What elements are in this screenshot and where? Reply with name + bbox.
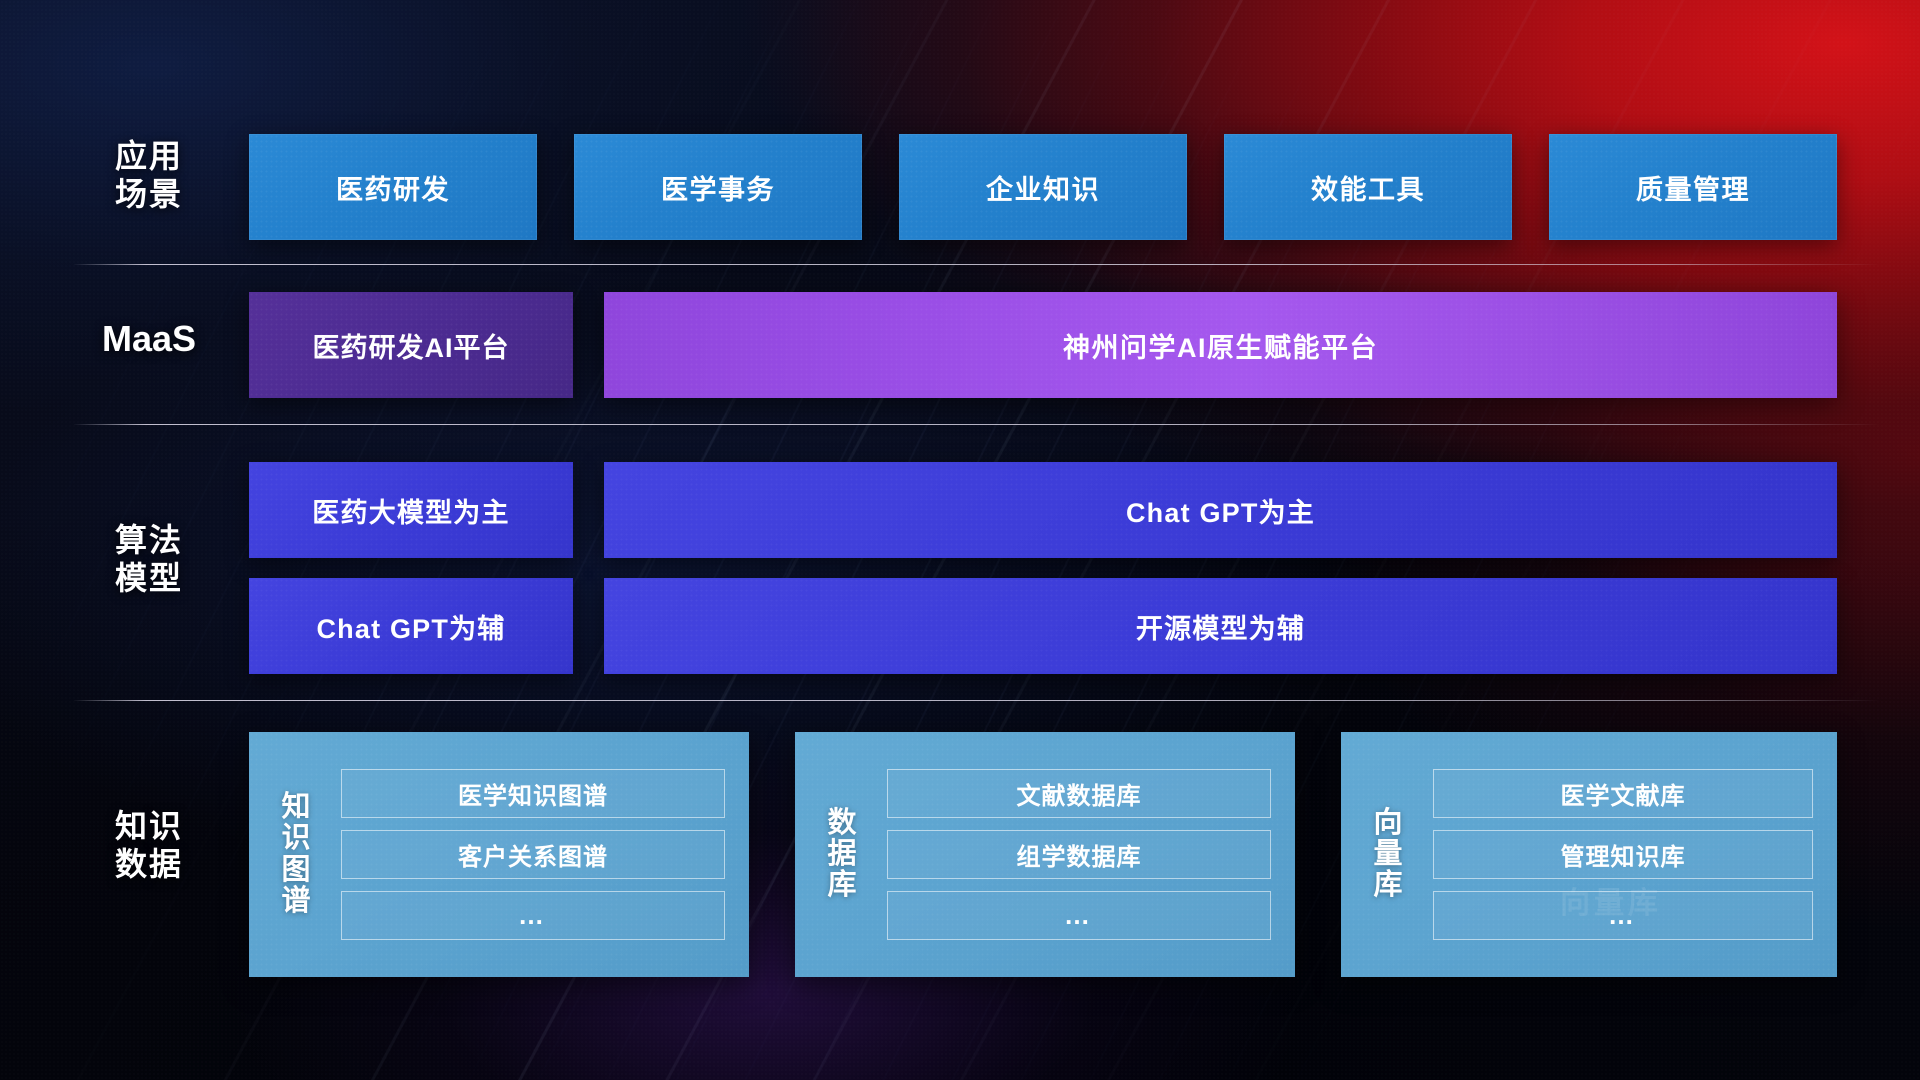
row-maas: MaaS 医药研发AI平台 神州问学AI原生赋能平台 [0, 292, 1920, 398]
knowledge-item[interactable]: 医学知识图谱 [341, 769, 725, 818]
knowledge-card-database-vertical-label: 数据库 [811, 808, 873, 902]
scenario-box-1[interactable]: 医药研发 [249, 134, 537, 240]
knowledge-item-label: 医学知识图谱 [458, 776, 608, 811]
knowledge-card-knowledge-graph-items: 医学知识图谱 客户关系图谱 … [327, 755, 733, 954]
knowledge-card-database[interactable]: 数据库 文献数据库 组学数据库 … [795, 732, 1295, 977]
scenario-box-4[interactable]: 效能工具 [1224, 134, 1512, 240]
row-label-line-2: 数据 [74, 846, 224, 884]
knowledge-item-label: 文献数据库 [1017, 776, 1142, 811]
knowledge-item-label: 医学文献库 [1561, 776, 1686, 811]
maas-box-shenzhou-platform[interactable]: 神州问学AI原生赋能平台 [604, 292, 1837, 398]
divider-1 [74, 264, 1880, 265]
scenario-box-5-label: 质量管理 [1636, 168, 1750, 207]
knowledge-item-more[interactable]: … [341, 891, 725, 940]
scenario-box-3-label: 企业知识 [986, 168, 1100, 207]
row-application-scenario: 应用 场景 医药研发 医学事务 企业知识 效能工具 质量管理 [0, 134, 1920, 240]
knowledge-item-label: … [518, 900, 548, 931]
knowledge-item[interactable]: 医学文献库 [1433, 769, 1813, 818]
knowledge-item-label: 客户关系图谱 [458, 837, 608, 872]
knowledge-item[interactable]: 组学数据库 [887, 830, 1271, 879]
algorithm-box-pharma-primary-label: 医药大模型为主 [312, 491, 509, 530]
algorithm-box-chatgpt-primary[interactable]: Chat GPT为主 [604, 462, 1837, 558]
row-label-algorithm-model: 算法 模型 [74, 522, 224, 598]
divider-3 [74, 700, 1880, 701]
knowledge-item[interactable]: 文献数据库 [887, 769, 1271, 818]
knowledge-item[interactable]: 客户关系图谱 [341, 830, 725, 879]
knowledge-item-label: 组学数据库 [1017, 837, 1142, 872]
scenario-box-5[interactable]: 质量管理 [1549, 134, 1837, 240]
knowledge-item-more[interactable]: … [1433, 891, 1813, 940]
divider-2 [74, 424, 1880, 425]
row-label-line-1: 知识 [74, 808, 224, 846]
scenario-box-1-label: 医药研发 [336, 168, 450, 207]
maas-box-pharma-ai-platform-label: 医药研发AI平台 [313, 326, 510, 365]
knowledge-card-vector-store-vertical-label: 向量库 [1357, 808, 1419, 902]
row-label-line-1: MaaS [74, 318, 224, 360]
knowledge-card-vector-store[interactable]: 向量库 医学文献库 管理知识库 … [1341, 732, 1837, 977]
knowledge-card-vector-store-items: 医学文献库 管理知识库 … [1419, 755, 1821, 954]
knowledge-item-more[interactable]: … [887, 891, 1271, 940]
maas-box-shenzhou-platform-label: 神州问学AI原生赋能平台 [1063, 326, 1378, 365]
knowledge-card-knowledge-graph[interactable]: 知识图谱 医学知识图谱 客户关系图谱 … [249, 732, 749, 977]
knowledge-item-label: 管理知识库 [1561, 837, 1686, 872]
architecture-diagram: 应用 场景 医药研发 医学事务 企业知识 效能工具 质量管理 [0, 0, 1920, 1080]
row-label-line-1: 应用 [74, 138, 224, 176]
maas-box-pharma-ai-platform[interactable]: 医药研发AI平台 [249, 292, 573, 398]
row-label-line-1: 算法 [74, 522, 224, 560]
algorithm-box-pharma-primary[interactable]: 医药大模型为主 [249, 462, 573, 558]
algorithm-box-chatgpt-secondary-label: Chat GPT为辅 [316, 607, 505, 646]
row-label-line-2: 场景 [74, 176, 224, 214]
knowledge-card-knowledge-graph-vertical-label: 知识图谱 [265, 792, 327, 917]
row-label-knowledge-data: 知识 数据 [74, 808, 224, 884]
scenario-box-3[interactable]: 企业知识 [899, 134, 1187, 240]
algorithm-box-opensource-secondary-label: 开源模型为辅 [1136, 607, 1305, 646]
algorithm-box-chatgpt-secondary[interactable]: Chat GPT为辅 [249, 578, 573, 674]
row-label-maas: MaaS [74, 318, 224, 360]
scenario-box-2-label: 医学事务 [661, 168, 775, 207]
scenario-box-2[interactable]: 医学事务 [574, 134, 862, 240]
algorithm-box-opensource-secondary[interactable]: 开源模型为辅 [604, 578, 1837, 674]
knowledge-card-database-items: 文献数据库 组学数据库 … [873, 755, 1279, 954]
knowledge-item-label: … [1064, 900, 1094, 931]
row-knowledge-data: 知识 数据 知识图谱 医学知识图谱 客户关系图谱 … [0, 732, 1920, 977]
algorithm-box-chatgpt-primary-label: Chat GPT为主 [1126, 491, 1315, 530]
scenario-box-4-label: 效能工具 [1311, 168, 1425, 207]
knowledge-item[interactable]: 管理知识库 [1433, 830, 1813, 879]
row-label-line-2: 模型 [74, 560, 224, 598]
row-algorithm-model: 算法 模型 医药大模型为主 Chat GPT为主 Chat GPT为辅 开源模型… [0, 452, 1920, 684]
knowledge-item-label: … [1608, 900, 1638, 931]
row-label-application-scenario: 应用 场景 [74, 138, 224, 214]
